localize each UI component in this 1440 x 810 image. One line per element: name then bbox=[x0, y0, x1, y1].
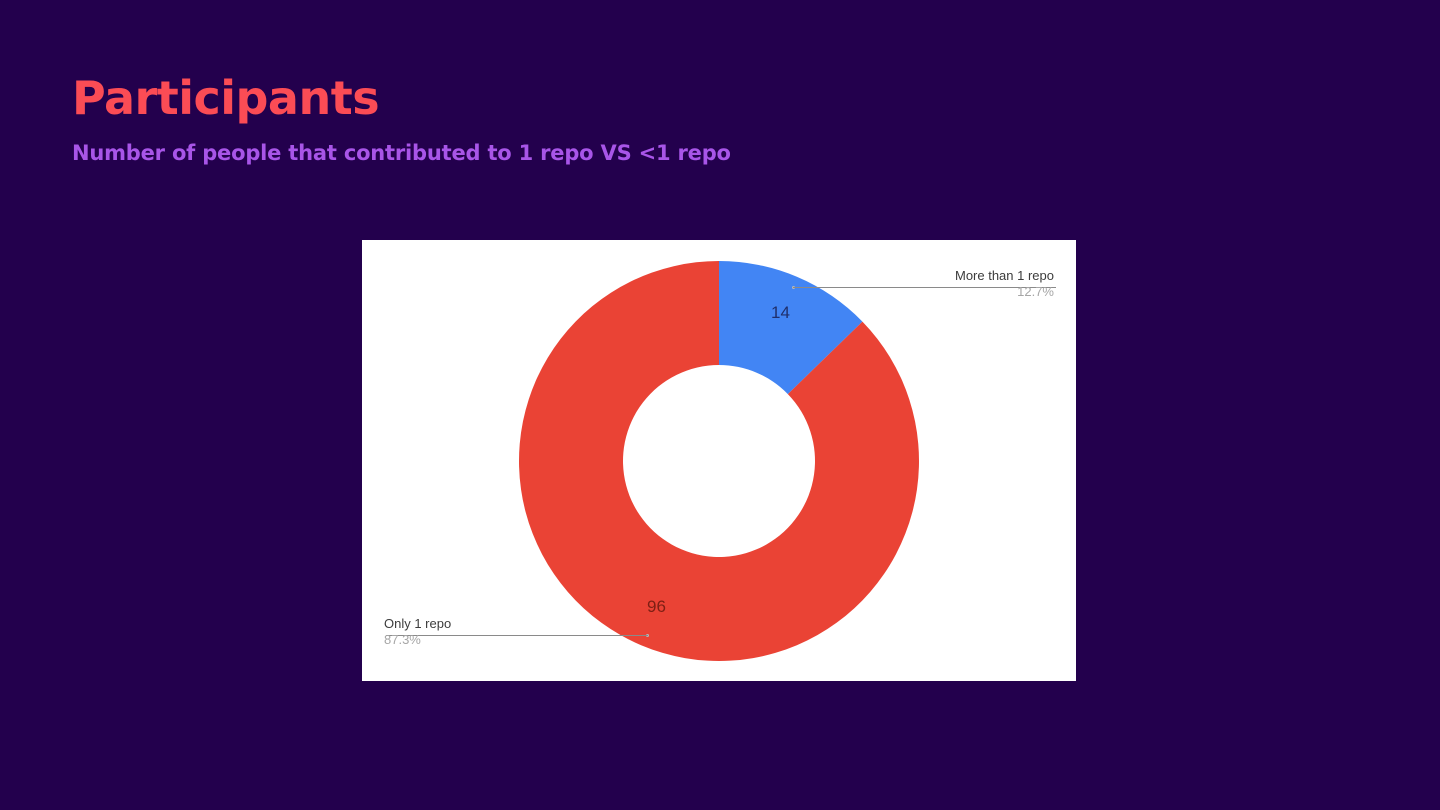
donut-slice-group bbox=[519, 261, 919, 661]
donut-chart-svg bbox=[362, 240, 1076, 681]
slide-canvas: Participants Number of people that contr… bbox=[0, 0, 1440, 810]
page-subtitle: Number of people that contributed to 1 r… bbox=[72, 124, 1272, 166]
callout-more-than-1-repo: More than 1 repo 12.7% bbox=[756, 268, 1056, 300]
slice-value-only-1-repo: 96 bbox=[647, 597, 666, 617]
page-title: Participants bbox=[72, 72, 1272, 124]
donut-chart: 14 96 More than 1 repo 12.7% Only 1 repo… bbox=[362, 240, 1076, 681]
callout-only-1-repo: Only 1 repo 87.3% bbox=[384, 616, 684, 648]
heading-block: Participants Number of people that contr… bbox=[72, 72, 1272, 166]
callout-label-only-1-repo: Only 1 repo bbox=[384, 616, 684, 632]
callout-percent-more-than-1-repo: 12.7% bbox=[756, 284, 1056, 300]
chart-panel: 14 96 More than 1 repo 12.7% Only 1 repo… bbox=[362, 240, 1076, 681]
callout-label-more-than-1-repo: More than 1 repo bbox=[756, 268, 1056, 284]
callout-percent-only-1-repo: 87.3% bbox=[384, 632, 684, 648]
slice-value-more-than-1-repo: 14 bbox=[771, 303, 790, 323]
